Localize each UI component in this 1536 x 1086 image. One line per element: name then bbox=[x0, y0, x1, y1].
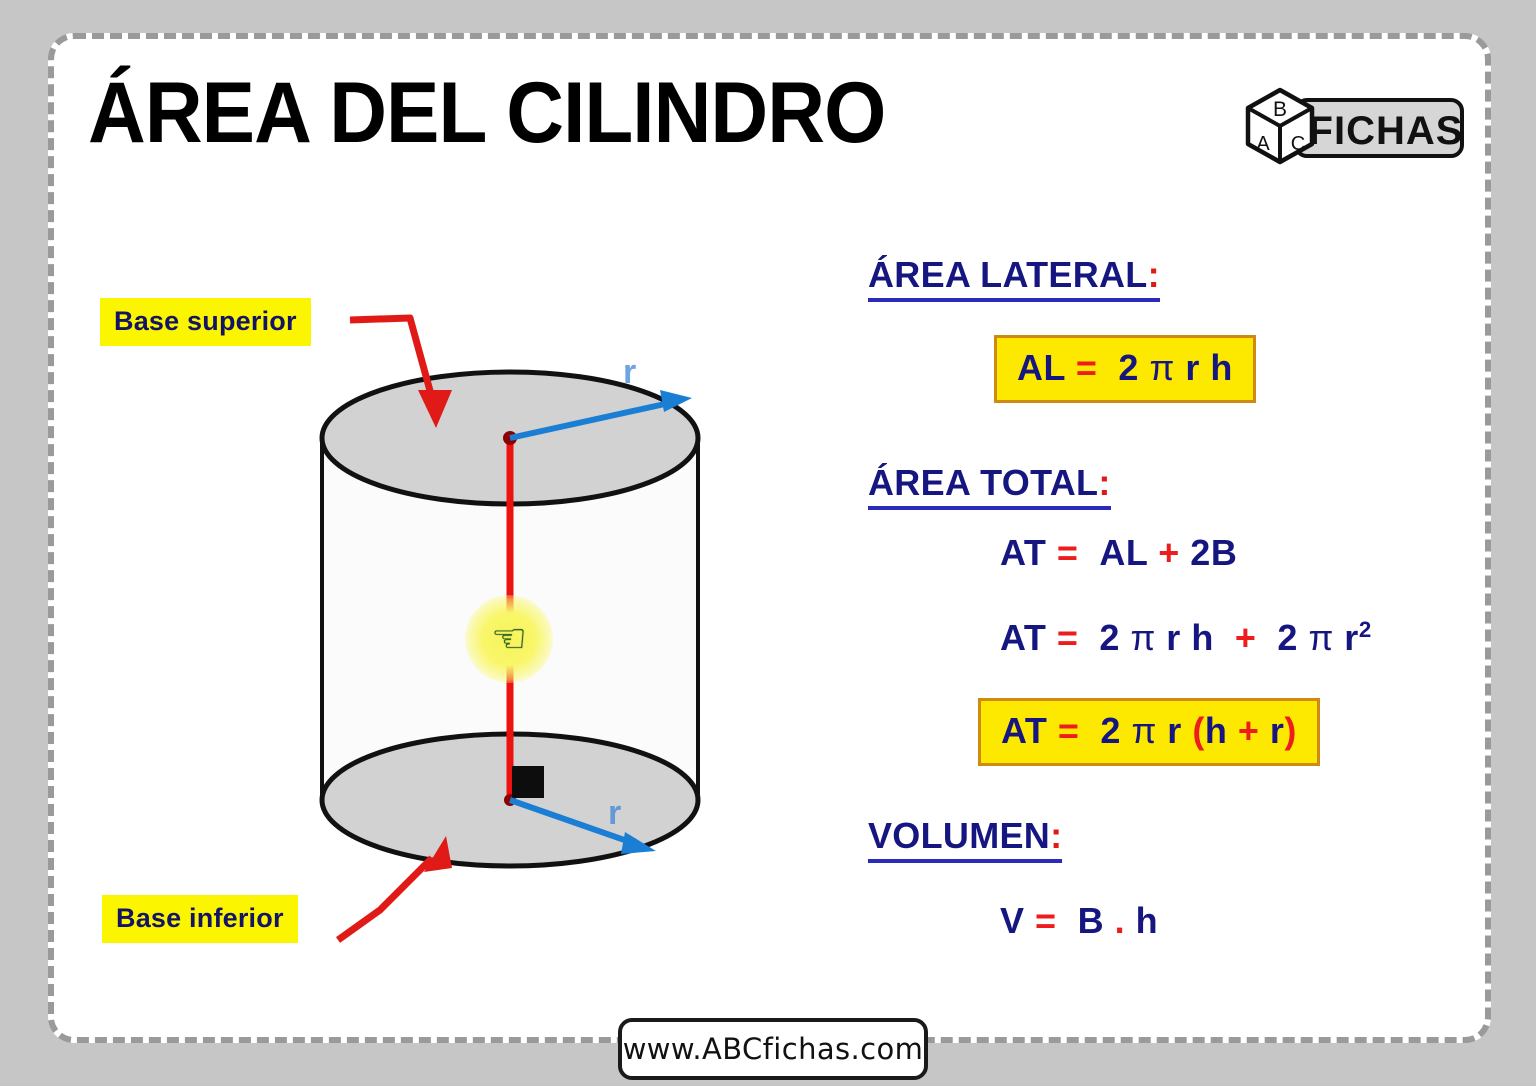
token-two: 2 bbox=[1099, 617, 1120, 658]
cylinder-svg: r r bbox=[80, 250, 800, 970]
token-dot: . bbox=[1115, 900, 1126, 941]
worksheet-page: ÁREA DEL CILINDRO B A C FICHAS bbox=[0, 0, 1536, 1086]
token-equals: = bbox=[1057, 532, 1079, 573]
token-plus: + bbox=[1238, 710, 1260, 751]
heading-colon: : bbox=[1148, 254, 1160, 295]
token-h: h bbox=[1210, 347, 1233, 388]
label-base-inferior: Base inferior bbox=[102, 895, 298, 943]
token-AT: AT bbox=[1001, 710, 1047, 751]
svg-text:A: A bbox=[1256, 133, 1270, 155]
heading-colon: : bbox=[1098, 462, 1110, 503]
token-two: 2 bbox=[1100, 710, 1121, 751]
token-B: B bbox=[1078, 900, 1105, 941]
pointing-hand-icon: ☜ bbox=[491, 619, 527, 659]
radius-label-bottom: r bbox=[608, 794, 621, 832]
token-r: r bbox=[1185, 347, 1200, 388]
svg-text:B: B bbox=[1273, 98, 1287, 121]
heading-volumen: VOLUMEN: bbox=[868, 815, 1062, 863]
token-two: 2 bbox=[1118, 347, 1139, 388]
formula-area-lateral: AL = 2 π r h bbox=[994, 335, 1256, 403]
page-title: ÁREA DEL CILINDRO bbox=[88, 70, 885, 156]
token-r: r bbox=[1167, 710, 1182, 751]
token-h: h bbox=[1191, 617, 1214, 658]
cylinder-diagram: r r ☜ Base superior Base inferior bbox=[80, 250, 800, 970]
height-marker-glow: ☜ bbox=[465, 595, 553, 683]
abc-fichas-logo: B A C FICHAS bbox=[1240, 84, 1468, 174]
token-AT: AT bbox=[1000, 617, 1046, 658]
token-pi: π bbox=[1149, 347, 1174, 388]
token-open-paren: ( bbox=[1192, 710, 1205, 751]
token-equals: = bbox=[1057, 617, 1079, 658]
token-h: h bbox=[1136, 900, 1159, 941]
token-pi: π bbox=[1131, 710, 1156, 751]
logo-wordmark-text: FICHAS bbox=[1309, 109, 1464, 153]
formula-volumen: V = B . h bbox=[1000, 900, 1158, 942]
heading-area-lateral: ÁREA LATERAL: bbox=[868, 254, 1160, 302]
logo-cube-icon: B A C bbox=[1248, 90, 1312, 162]
token-AL: AL bbox=[1017, 347, 1065, 388]
token-equals: = bbox=[1058, 710, 1080, 751]
heading-area-total-text: ÁREA TOTAL bbox=[868, 462, 1098, 503]
heading-area-total: ÁREA TOTAL: bbox=[868, 462, 1111, 510]
formula-area-total-3: AT = 2 π r (h + r) bbox=[978, 698, 1320, 766]
token-pi: π bbox=[1308, 617, 1333, 658]
radius-label-top: r bbox=[623, 353, 636, 391]
token-close-paren: ) bbox=[1284, 710, 1297, 751]
formula-area-total-2: AT = 2 π r h + 2 π r2 bbox=[1000, 617, 1372, 659]
heading-volumen-text: VOLUMEN bbox=[868, 815, 1050, 856]
svg-text:C: C bbox=[1291, 133, 1305, 155]
token-plus: + bbox=[1158, 532, 1180, 573]
token-equals: = bbox=[1035, 900, 1057, 941]
heading-area-lateral-text: ÁREA LATERAL bbox=[868, 254, 1148, 295]
token-plus: + bbox=[1235, 617, 1257, 658]
token-sup2: 2 bbox=[1359, 617, 1372, 642]
token-r: r bbox=[1166, 617, 1181, 658]
token-equals: = bbox=[1076, 347, 1098, 388]
token-AL: AL bbox=[1099, 532, 1147, 573]
token-pi: π bbox=[1130, 617, 1155, 658]
token-two: 2 bbox=[1277, 617, 1298, 658]
token-h: h bbox=[1205, 710, 1228, 751]
label-base-superior: Base superior bbox=[100, 298, 311, 346]
token-V: V bbox=[1000, 900, 1025, 941]
right-angle-marker bbox=[512, 766, 544, 798]
formula-area-total-1: AT = AL + 2B bbox=[1000, 532, 1237, 574]
formula-column: ÁREA LATERAL: AL = 2 π r h ÁREA TOTAL: A… bbox=[860, 250, 1480, 970]
footer-url[interactable]: www.ABCfichas.com bbox=[618, 1018, 928, 1080]
heading-colon: : bbox=[1050, 815, 1062, 856]
token-2B: 2B bbox=[1190, 532, 1237, 573]
token-AT: AT bbox=[1000, 532, 1046, 573]
token-r: r bbox=[1344, 617, 1359, 658]
logo-svg: B A C FICHAS bbox=[1240, 84, 1468, 174]
token-r: r bbox=[1270, 710, 1285, 751]
